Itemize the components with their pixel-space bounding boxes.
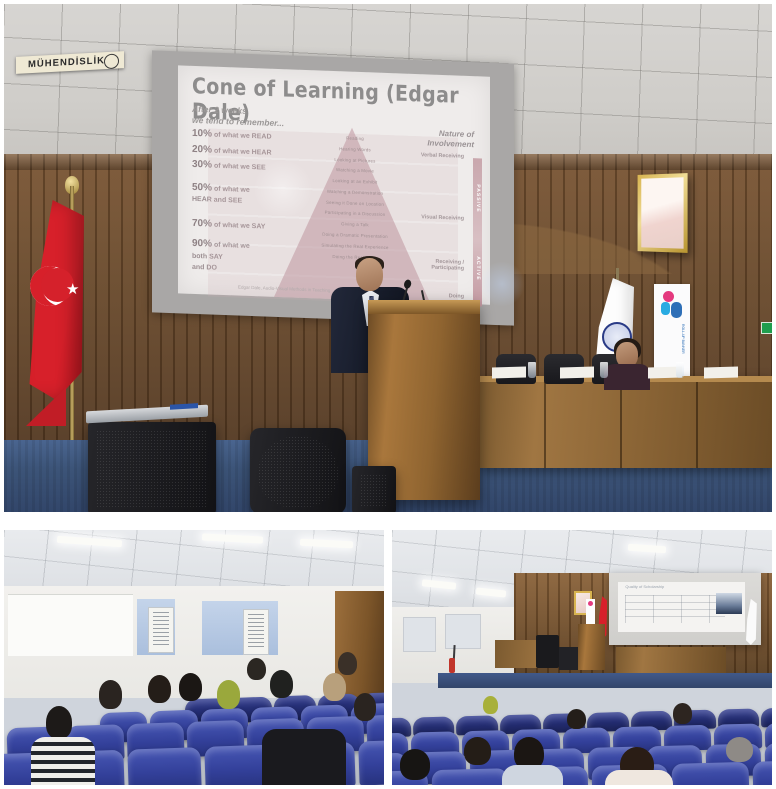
lens-flare bbox=[478, 262, 526, 306]
slide-table bbox=[625, 595, 725, 623]
attendee-head bbox=[270, 670, 293, 698]
attendee-head bbox=[464, 737, 491, 765]
attendee-torso bbox=[605, 770, 673, 785]
slide-surface: Quality of Scholarship bbox=[618, 582, 746, 632]
attendee-head bbox=[179, 673, 202, 701]
attendee-head bbox=[338, 652, 357, 675]
attendee-head bbox=[46, 706, 73, 739]
slide-right-heading: Nature ofInvolvement bbox=[394, 127, 474, 151]
attendee-head bbox=[567, 709, 586, 729]
photo-speaker-at-podium: Cone of Learning (Edgar Dale) After 2 we… bbox=[4, 4, 772, 512]
name-card bbox=[492, 367, 526, 379]
attendee-head bbox=[673, 703, 692, 723]
attendee-torso bbox=[31, 737, 96, 785]
lecture-hall-wide: Quality of Scholarship bbox=[392, 530, 772, 785]
university-emblem-icon bbox=[104, 53, 119, 69]
coat-on-seat bbox=[262, 729, 346, 785]
attendee-head bbox=[247, 658, 266, 681]
slide-subtitle: After 2 weekswe tend to remember... bbox=[192, 104, 284, 129]
auditorium-room: Cone of Learning (Edgar Dale) After 2 we… bbox=[4, 4, 772, 512]
label-passive: PASSIVE bbox=[475, 184, 481, 206]
attendee-head bbox=[148, 675, 171, 703]
pa-monitor-speaker bbox=[352, 466, 396, 512]
attendee-torso bbox=[502, 765, 563, 785]
slide-photo-inset bbox=[716, 593, 742, 614]
rollup-banner bbox=[586, 599, 595, 627]
name-card bbox=[704, 367, 738, 379]
window-panel bbox=[445, 614, 481, 649]
exit-sign-icon bbox=[761, 322, 772, 334]
lecture-hall-left bbox=[4, 530, 384, 785]
speaker-head bbox=[356, 258, 383, 291]
star-icon: ★ bbox=[66, 282, 79, 297]
photo-collage: Cone of Learning (Edgar Dale) After 2 we… bbox=[0, 0, 776, 789]
attendee-head bbox=[726, 737, 753, 763]
framed-portrait bbox=[638, 173, 688, 253]
water-glass bbox=[528, 362, 536, 378]
photo-auditorium-wide-rear-view: Quality of Scholarship bbox=[392, 530, 772, 785]
pa-loudspeaker bbox=[88, 422, 216, 512]
water-glass bbox=[600, 362, 608, 378]
slide-surface: Cone of Learning (Edgar Dale) After 2 we… bbox=[178, 65, 490, 304]
name-card bbox=[560, 367, 594, 379]
attendee-head bbox=[483, 696, 498, 714]
attendee-head bbox=[323, 673, 346, 701]
water-glass bbox=[676, 362, 684, 378]
attendee-head bbox=[217, 680, 240, 708]
attendee-head bbox=[354, 693, 377, 721]
screen-glare bbox=[252, 160, 314, 218]
projection-screen: Cone of Learning (Edgar Dale) After 2 we… bbox=[152, 50, 514, 325]
photo-audience-seated-left-view bbox=[4, 530, 384, 785]
panelist-body bbox=[604, 364, 650, 390]
window-panel bbox=[403, 617, 435, 652]
projection-screen: Quality of Scholarship bbox=[609, 573, 761, 644]
slide-title: Quality of Scholarship bbox=[625, 584, 664, 589]
attendee-head bbox=[99, 680, 122, 708]
pa-loudspeaker bbox=[250, 428, 346, 512]
podium-sign-text: MÜHENDİSLİK bbox=[16, 55, 105, 71]
attendee-head bbox=[400, 749, 430, 780]
